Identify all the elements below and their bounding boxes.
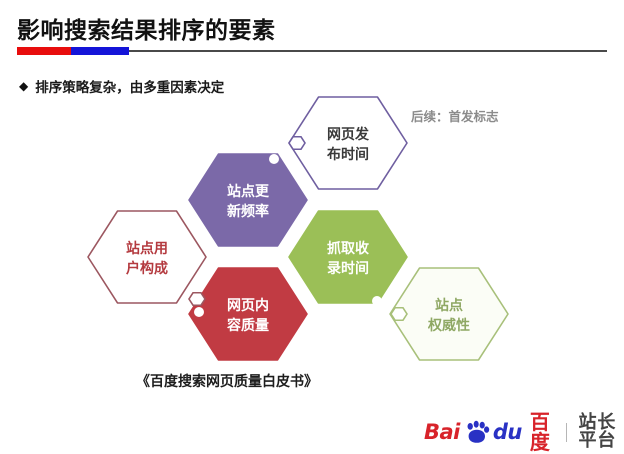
hex-node-shape <box>289 97 407 189</box>
connector-dot-connector-crawl-dot <box>372 296 382 306</box>
title-divider <box>17 46 607 56</box>
hex-node-label: 站点用户构成 <box>126 240 168 277</box>
hex-node-shape <box>189 268 307 360</box>
connector-dot-connector-update-dot <box>269 154 279 164</box>
annotation-followup-label: 后续：首发标志 <box>411 106 499 125</box>
source-caption: 《百度搜索网页质量白皮书》 <box>136 371 318 391</box>
connector-hex-connector-crawl-authority <box>391 308 407 320</box>
hex-node-crawl-index-time[interactable]: 抓取收录时间 <box>289 211 407 303</box>
hex-node-user-composition[interactable]: 站点用户构成 <box>88 211 206 303</box>
logo-text-bai: Bai <box>424 422 460 443</box>
connector-hex-connector-user-content <box>189 293 205 305</box>
hex-node-publish-time[interactable]: 网页发布时间 <box>289 97 407 189</box>
baidu-webmaster-logo: Bai du 百度 站长平台 <box>424 418 624 446</box>
connector-dot-connector-content-dot <box>194 307 204 317</box>
hex-node-shape <box>88 211 206 303</box>
hex-node-content-quality[interactable]: 网页内容质量 <box>189 268 307 360</box>
connector-hex-connector-publish-update <box>289 137 305 149</box>
hex-node-shape <box>289 211 407 303</box>
hex-node-label: 网页内容质量 <box>226 297 269 334</box>
hex-node-label: 站点权威性 <box>427 297 470 334</box>
logo-text-platform: 站长平台 <box>578 414 624 450</box>
logo-text-baidu-cn: 百度 <box>530 412 554 452</box>
hex-node-update-frequency[interactable]: 站点更新频率 <box>189 154 307 246</box>
hex-node-shape <box>189 154 307 246</box>
diamond-bullet-icon: ◆ <box>19 80 28 92</box>
page-title: 影响搜索结果排序的要素 <box>17 11 276 45</box>
logo-divider <box>566 423 567 442</box>
logo-text-du: du <box>493 422 522 443</box>
bullet-item: ◆ 排序策略复杂，由多重因素决定 <box>19 76 224 96</box>
hex-node-label: 站点更新频率 <box>227 183 270 220</box>
hex-node-site-authority[interactable]: 站点权威性 <box>390 268 508 360</box>
hex-node-label: 抓取收录时间 <box>327 240 370 277</box>
divider-line <box>129 50 607 52</box>
divider-segment-blue <box>71 47 129 55</box>
divider-segment-red <box>17 47 71 55</box>
bullet-text: 排序策略复杂，由多重因素决定 <box>35 76 224 96</box>
hex-node-label: 网页发布时间 <box>327 126 370 163</box>
hex-node-shape <box>390 268 508 360</box>
paw-print-icon <box>464 419 490 445</box>
